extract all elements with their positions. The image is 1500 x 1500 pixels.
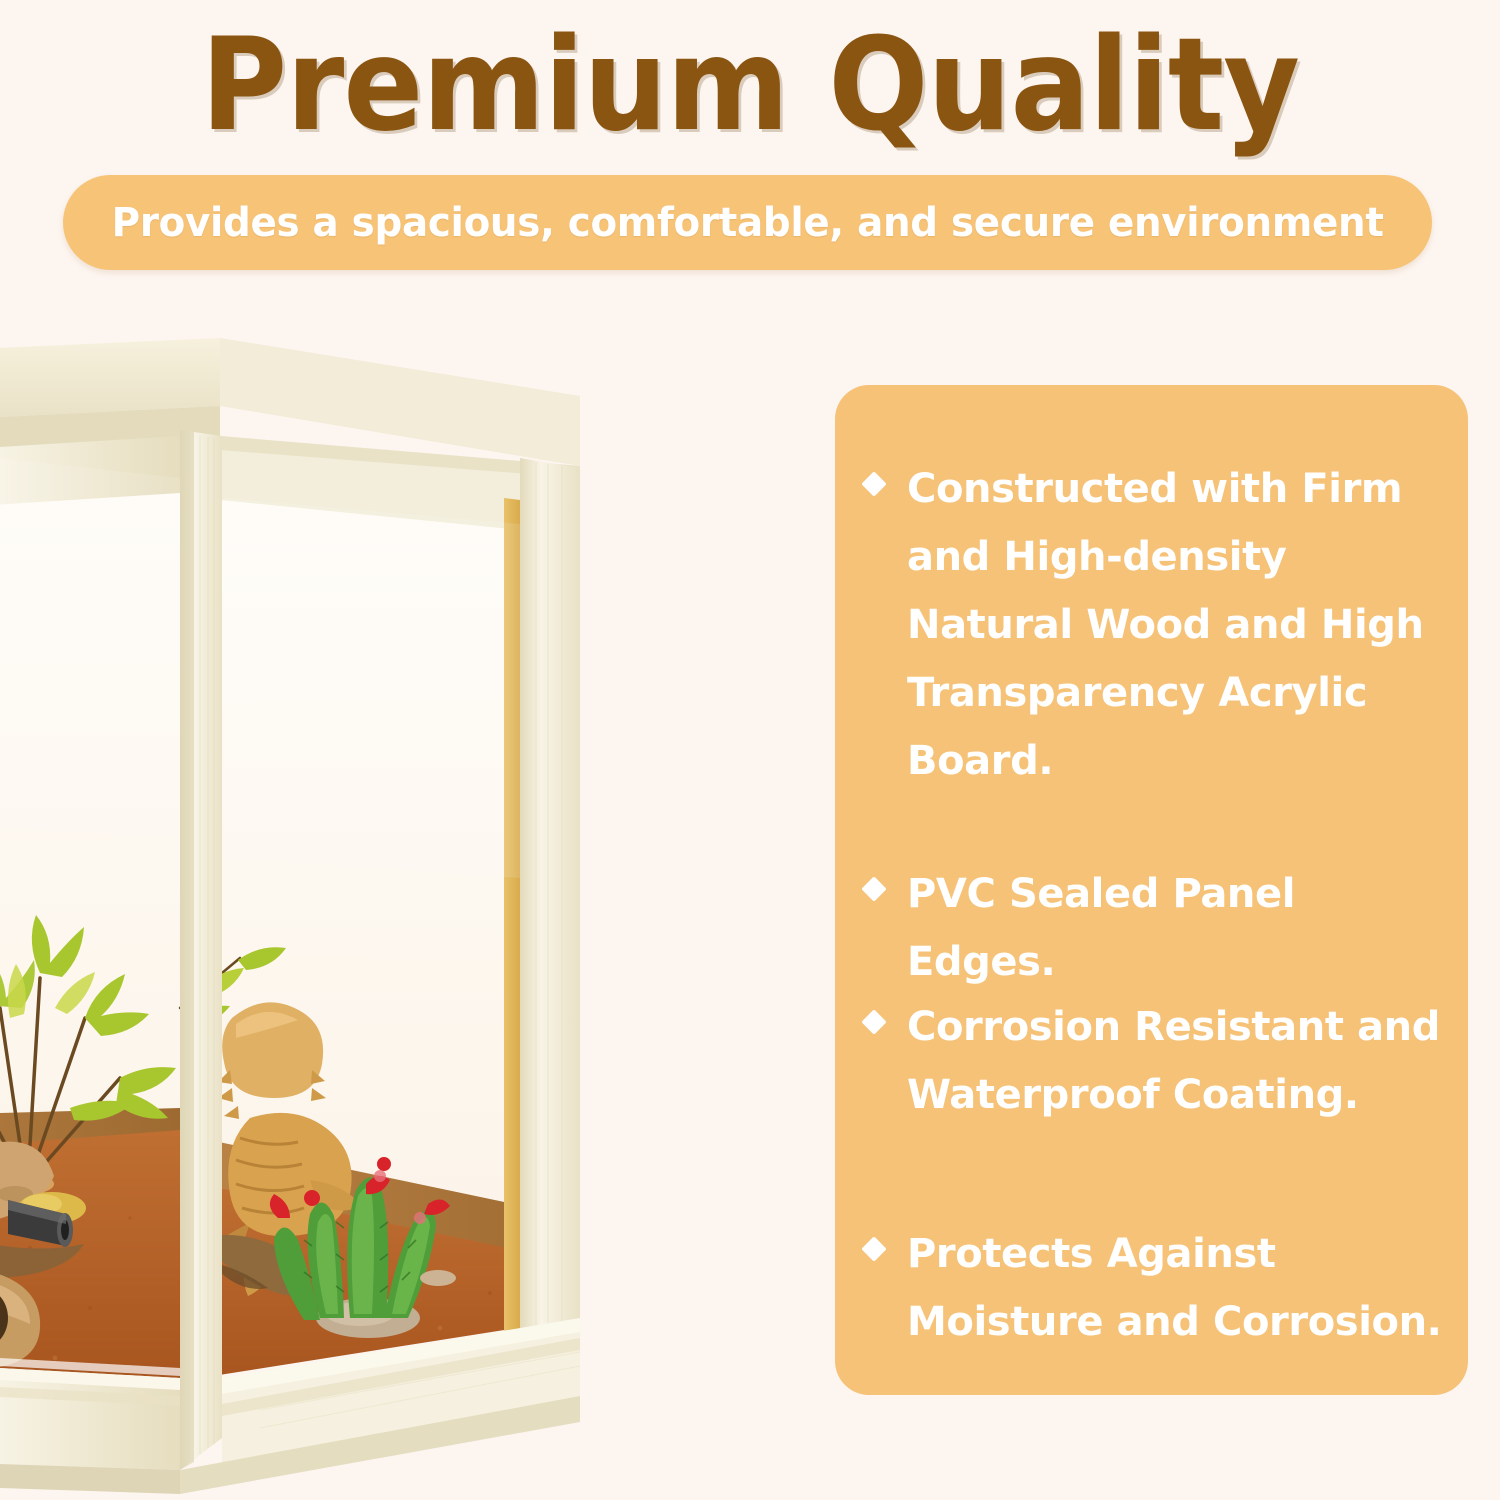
diamond-bullet-icon <box>861 1236 886 1261</box>
pebble-decor <box>420 1270 456 1286</box>
diamond-bullet-icon <box>861 1009 886 1034</box>
product-photo <box>0 318 700 1500</box>
feature-item-label: PVC Sealed Panel Edges. <box>907 860 1450 996</box>
diamond-bullet-icon <box>861 471 886 496</box>
feature-item-label: Corrosion Resistant and Waterproof Coati… <box>907 993 1450 1129</box>
feature-item-label: Constructed with Firm and High-density N… <box>907 455 1450 795</box>
diamond-bullet-icon <box>861 876 886 901</box>
feature-item: Corrosion Resistant and Waterproof Coati… <box>865 993 1450 1129</box>
subtitle-banner: Provides a spacious, comfortable, and se… <box>63 175 1432 270</box>
feature-item: Constructed with Firm and High-density N… <box>865 455 1450 795</box>
feature-item: Protects Against Moisture and Corrosion. <box>865 1220 1450 1356</box>
feature-panel: Constructed with Firm and High-density N… <box>835 385 1468 1395</box>
feature-item: PVC Sealed Panel Edges. <box>865 860 1450 996</box>
page-title: Premium Quality <box>60 22 1440 150</box>
terrarium-illustration <box>0 318 700 1500</box>
subtitle-text: Provides a spacious, comfortable, and se… <box>112 200 1384 246</box>
feature-item-label: Protects Against Moisture and Corrosion. <box>907 1220 1450 1356</box>
corner-post-right <box>520 458 580 1380</box>
